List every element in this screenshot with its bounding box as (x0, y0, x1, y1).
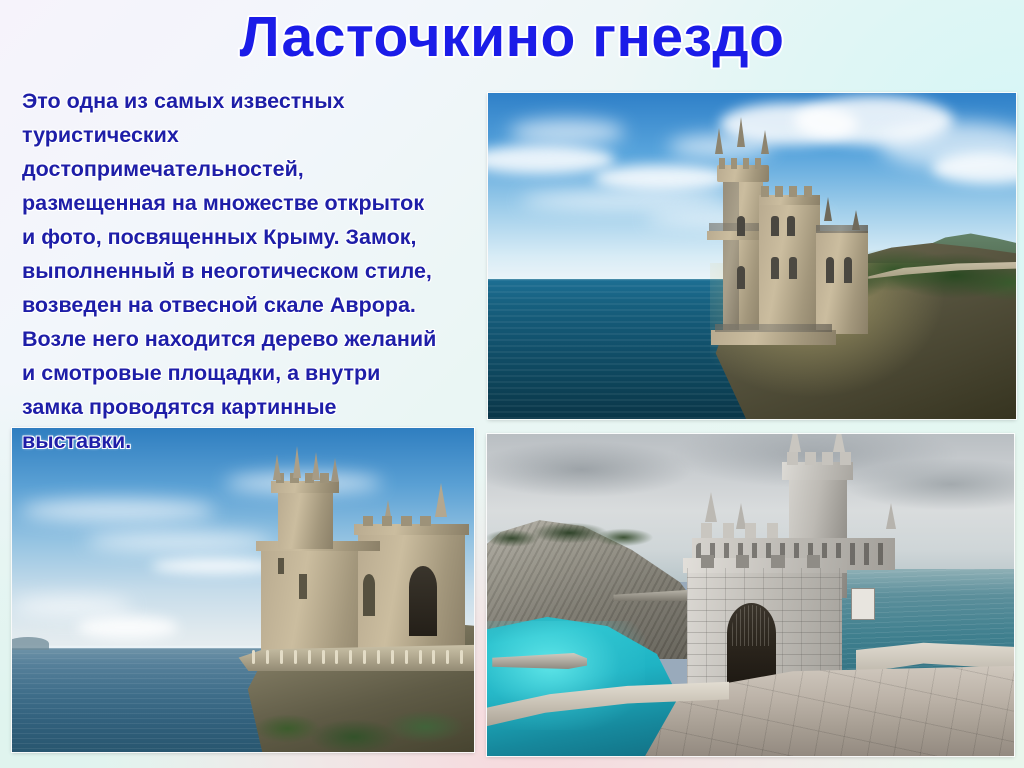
tower-shadow (723, 169, 739, 333)
castle-window (363, 574, 376, 615)
castle-window (789, 257, 797, 279)
wall-plaque (851, 588, 875, 620)
castle-round-tower (278, 487, 333, 549)
page-title-container: Ласточкино гнездо (0, 4, 1024, 70)
photo-scene (487, 434, 1014, 756)
photo-swallows-nest-sunny (488, 93, 1016, 419)
corbel (807, 555, 820, 568)
castle-spire (761, 130, 769, 154)
body-line: Это одна из самых известных (22, 84, 474, 118)
merlon (789, 186, 797, 197)
castle-spire (705, 492, 717, 522)
castle-spire (833, 434, 845, 452)
cloud (21, 499, 215, 522)
terrace-balustrade (243, 642, 474, 668)
merlon (420, 516, 431, 526)
merlon (723, 523, 734, 538)
merlon (363, 516, 374, 526)
castle-window (771, 257, 779, 279)
corbel (736, 555, 749, 568)
castle-window (787, 216, 795, 235)
merlon (731, 158, 737, 169)
castle-window (844, 257, 852, 283)
castle-portal (409, 566, 437, 637)
castle-east-wing (816, 231, 868, 334)
door-grille (732, 605, 772, 645)
body-line: выполненный в неоготическом стиле, (22, 254, 474, 288)
castle-spire (331, 458, 339, 482)
merlon (804, 186, 812, 197)
body-line: возведен на отвесной скале Аврора. (22, 288, 474, 322)
terrace-balustrade (715, 324, 831, 333)
corbel (701, 555, 714, 568)
east-wing-cornice (816, 225, 868, 234)
body-line: Возле него находится дерево желаний (22, 322, 474, 356)
merlon (840, 452, 851, 465)
cloud (12, 596, 132, 615)
castle-spire (886, 503, 896, 529)
merlon (743, 158, 749, 169)
photo-swallows-nest-overcast (487, 434, 1014, 756)
body-line: замка проводятся картинные (22, 390, 474, 424)
corbel (771, 555, 784, 568)
photo-scene (12, 428, 474, 752)
merlon (382, 516, 393, 526)
castle-spire (789, 434, 801, 452)
slide-canvas: Ласточкино гнездо Это одна из самых изве… (0, 0, 1024, 768)
body-paragraph: Это одна из самых известных туристически… (22, 84, 474, 458)
castle-window (278, 558, 284, 575)
castle-spire (737, 117, 745, 147)
castle-swallows-nest (699, 145, 900, 360)
castle-window (737, 266, 745, 290)
merlon (745, 523, 756, 538)
castle-spire (852, 210, 860, 230)
castle-swallows-nest (687, 437, 908, 688)
body-line: туристических (22, 118, 474, 152)
merlon (755, 158, 761, 169)
merlon (701, 523, 712, 538)
cliff-vegetation (252, 668, 474, 752)
cloud (509, 119, 625, 145)
cloud (86, 532, 271, 551)
merlon (775, 186, 783, 197)
castle-spire (824, 197, 832, 221)
castle-window (826, 257, 834, 283)
merlon (320, 473, 329, 483)
merlon (787, 452, 798, 465)
merlon (761, 186, 769, 197)
merlon (719, 158, 725, 169)
castle-spire (435, 483, 447, 517)
castle-window (737, 216, 745, 235)
castle-terrace (711, 330, 835, 345)
tower-battlement (782, 462, 853, 480)
merlon (767, 523, 778, 538)
body-line: достопримечательностей, (22, 152, 474, 186)
body-line: и фото, посвященных Крыму. Замок, (22, 220, 474, 254)
body-line: и смотровые площадки, а внутри (22, 356, 474, 390)
castle-spire (715, 128, 723, 154)
body-line: выставки. (22, 424, 474, 458)
merlon (822, 452, 833, 465)
merlon (401, 516, 412, 526)
headland-trees (487, 505, 656, 550)
photo-swallows-nest-closeup (12, 428, 474, 752)
merlon (805, 452, 816, 465)
castle-swallows-nest (252, 454, 465, 661)
page-title: Ласточкино гнездо (240, 4, 785, 70)
photo-scene (488, 93, 1016, 419)
distant-island (12, 637, 49, 650)
castle-window (771, 216, 779, 235)
castle-window (299, 574, 308, 599)
cloud (77, 616, 179, 639)
body-line: размещенная на множестве открыток (22, 186, 474, 220)
